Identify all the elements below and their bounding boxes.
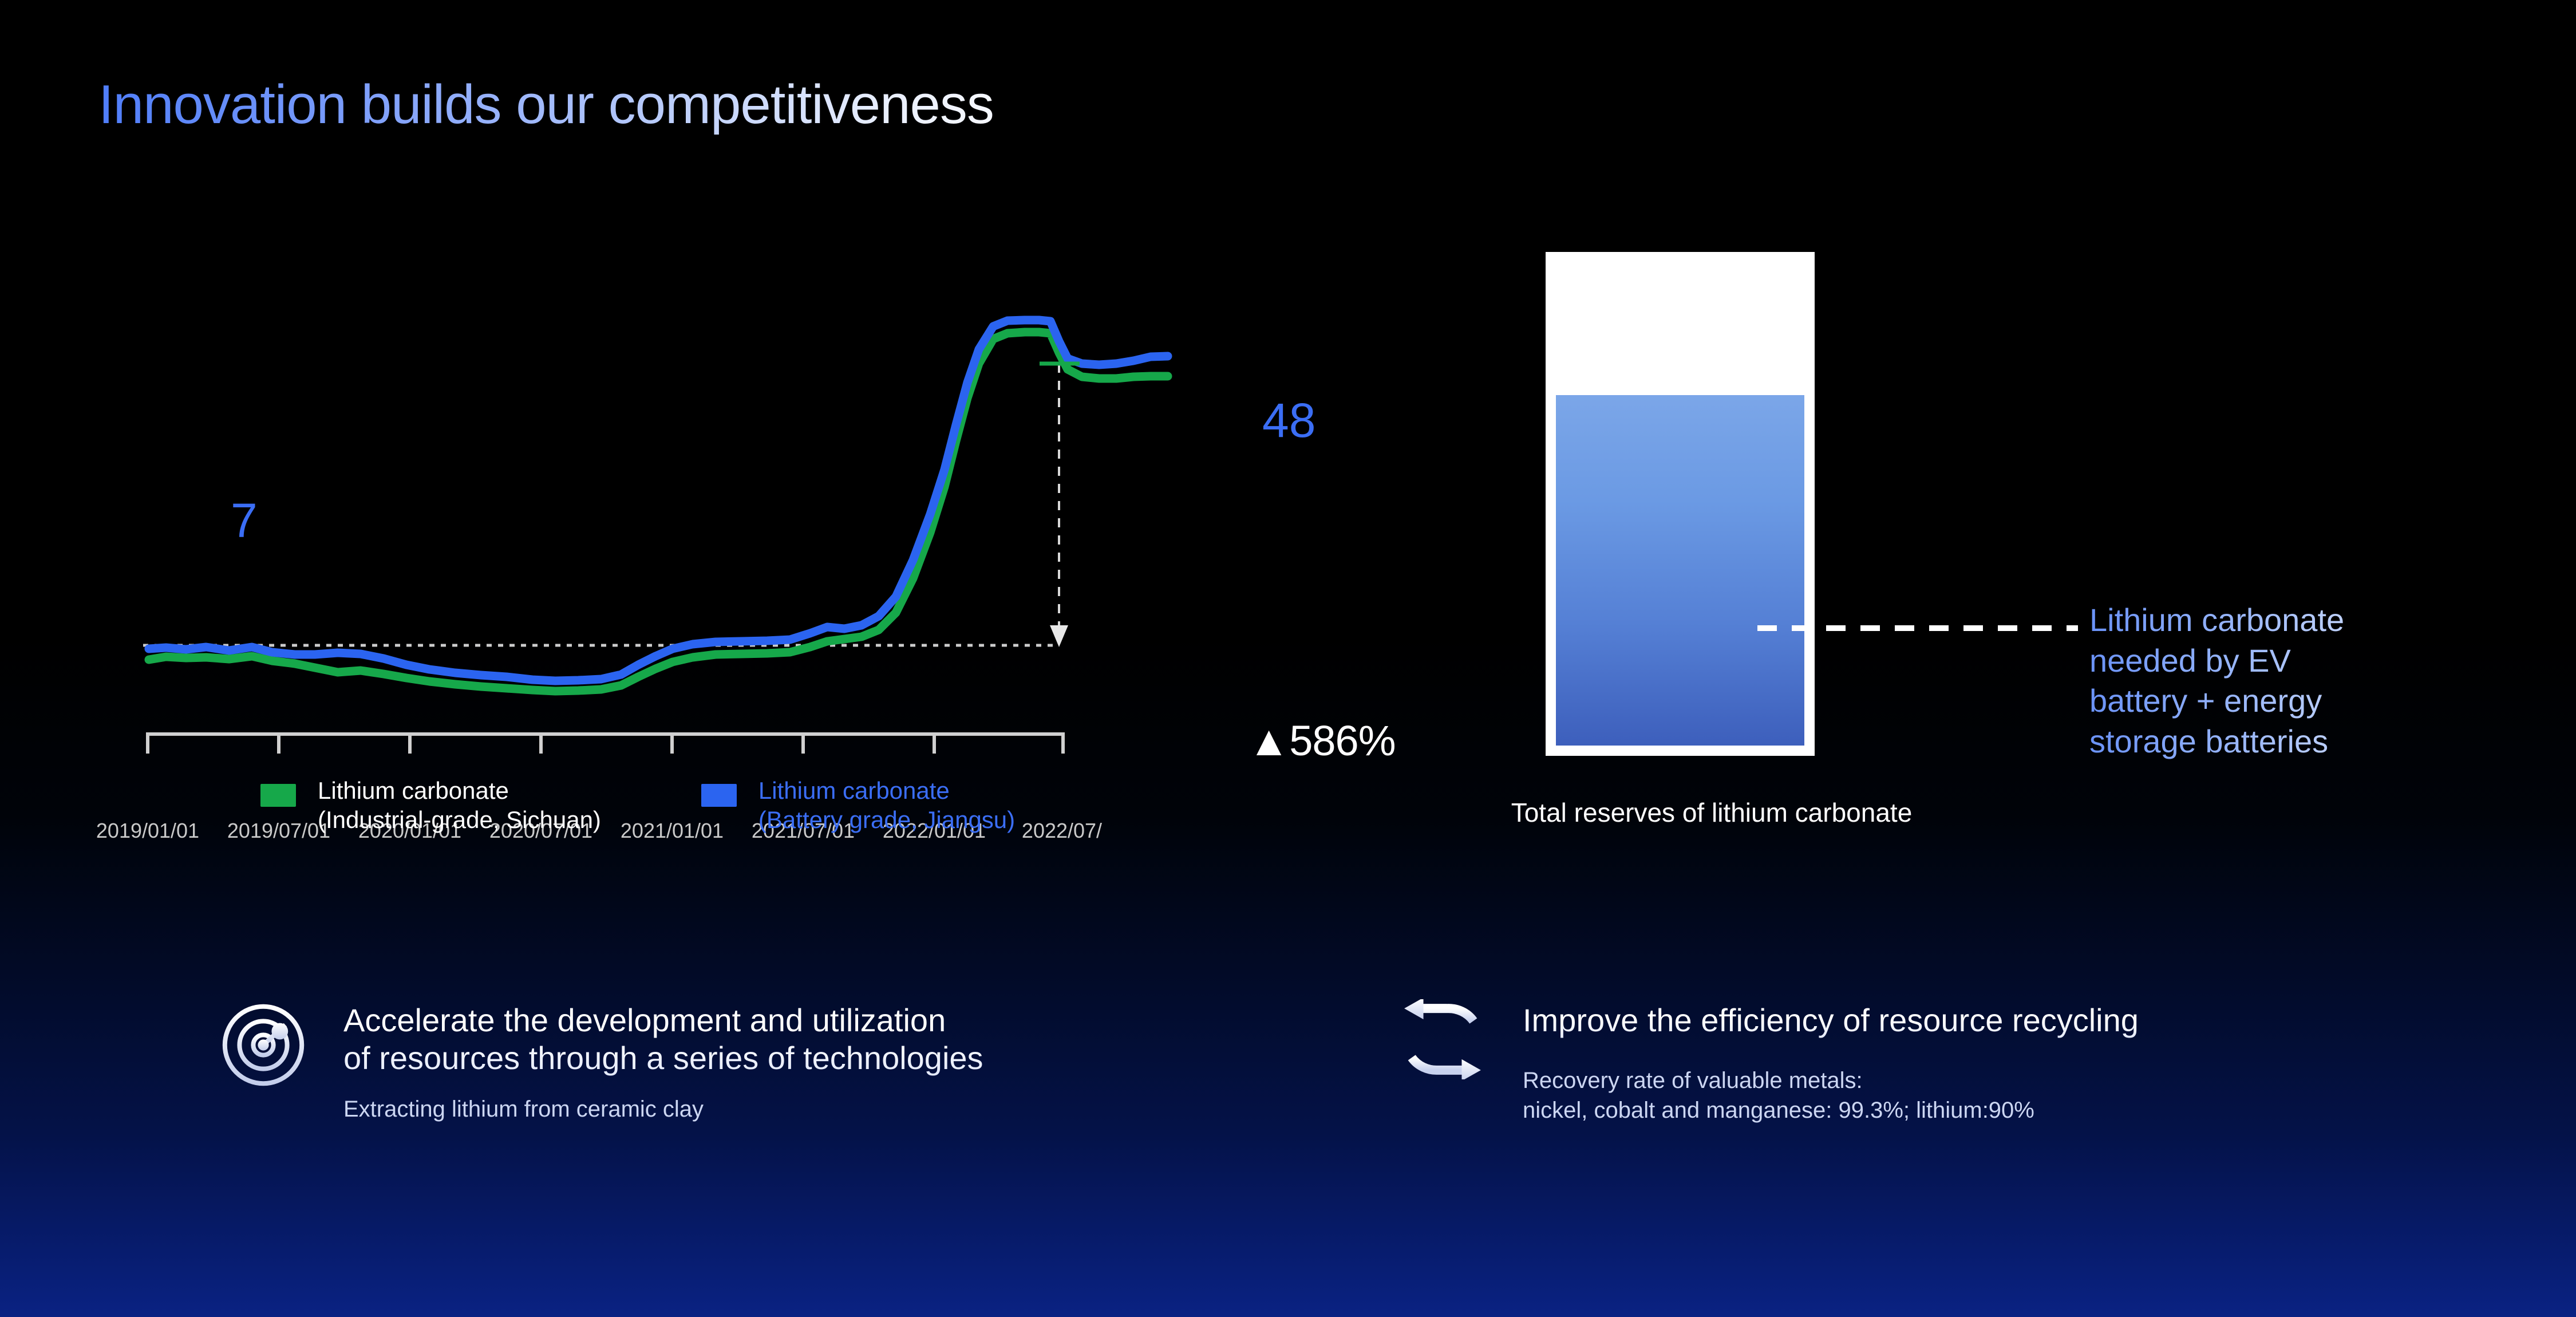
legend-label-battery: Lithium carbonate (Battery grade, Jiangs… <box>758 776 1015 834</box>
feature-subtext: Extracting lithium from ceramic clay <box>343 1094 983 1124</box>
x-tick-label: 2019/01/01 <box>96 819 199 843</box>
series-line-battery <box>149 320 1168 681</box>
x-axis-ticks <box>148 734 1063 754</box>
chart-svg <box>143 246 1322 762</box>
feature-body: Improve the efficiency of resource recyc… <box>1523 999 2139 1125</box>
page-title: Innovation builds our competitiveness <box>98 73 994 136</box>
legend-item-battery[interactable]: Lithium carbonate (Battery grade, Jiangs… <box>701 776 1015 834</box>
reserve-annotation-text: Lithium carbonate needed by EV battery +… <box>2089 600 2502 762</box>
reserve-bar-inner <box>1556 262 1804 746</box>
feature-resources: Accelerate the development and utilizati… <box>218 999 1248 1124</box>
feature-heading: Improve the efficiency of resource recyc… <box>1523 1001 2139 1039</box>
growth-arrow-head <box>1050 625 1068 647</box>
legend-label-industrial: Lithium carbonate (Industrial-grade, Sic… <box>318 776 601 834</box>
reserves-diagram: Lithium carbonate needed by EV battery +… <box>1546 252 2553 830</box>
feature-recycling: Improve the efficiency of resource recyc… <box>1397 999 2456 1125</box>
chart-plot-area <box>143 246 1322 762</box>
chart-legend: Lithium carbonate (Industrial-grade, Sic… <box>260 776 1234 834</box>
start-value-label: 7 <box>231 496 258 545</box>
reserve-connector-dashed-line <box>1757 625 2078 631</box>
radar-target-icon <box>218 999 309 1091</box>
growth-percent-badge: ▲586% <box>1248 720 1396 762</box>
reserve-bar-container <box>1546 252 1815 756</box>
legend-item-industrial[interactable]: Lithium carbonate (Industrial-grade, Sic… <box>260 776 601 834</box>
recycling-loop-icon <box>1397 999 1488 1079</box>
feature-body: Accelerate the development and utilizati… <box>343 999 983 1124</box>
feature-subtext: Recovery rate of valuable metals: nickel… <box>1523 1066 2139 1125</box>
feature-heading: Accelerate the development and utilizati… <box>343 1001 983 1077</box>
series-line-industrial <box>149 332 1168 691</box>
reserve-bar-fill <box>1556 395 1804 746</box>
legend-swatch-industrial <box>260 784 296 807</box>
legend-swatch-battery <box>701 784 737 807</box>
reserve-caption: Total reserves of lithium carbonate <box>1454 797 1969 828</box>
end-value-label: 48 <box>1262 396 1315 444</box>
